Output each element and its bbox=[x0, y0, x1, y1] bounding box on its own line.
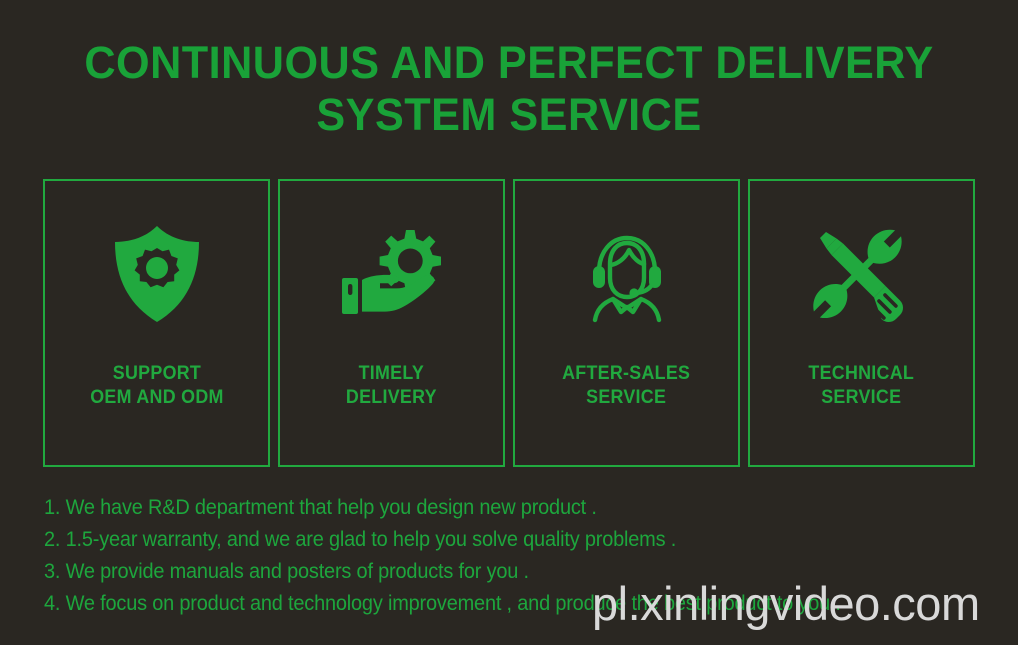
feature-card-label: SUPPORT OEM AND ODM bbox=[90, 362, 223, 410]
feature-card-row: SUPPORT OEM AND ODM TIMELY DELIVERY bbox=[43, 179, 975, 467]
feature-card-label-line-1: AFTER-SALES bbox=[562, 362, 690, 386]
feature-card-label-line-2: SERVICE bbox=[809, 386, 915, 410]
feature-card-label: TECHNICAL SERVICE bbox=[809, 362, 915, 410]
feature-card-label: AFTER-SALES SERVICE bbox=[562, 362, 690, 410]
feature-card-label-line-1: TIMELY bbox=[346, 362, 437, 386]
page-title-line-1: CONTINUOUS AND PERFECT DELIVERY bbox=[20, 40, 997, 85]
page-title-line-2: SYSTEM SERVICE bbox=[20, 92, 997, 137]
feature-card-technical[interactable]: TECHNICAL SERVICE bbox=[748, 179, 975, 467]
hand-gear-icon bbox=[338, 224, 446, 324]
feature-card-label-line-2: DELIVERY bbox=[346, 386, 437, 410]
feature-card-label-line-1: TECHNICAL bbox=[809, 362, 915, 386]
headset-agent-icon bbox=[579, 224, 675, 324]
feature-card-timely-delivery[interactable]: TIMELY DELIVERY bbox=[278, 179, 505, 467]
feature-card-after-sales[interactable]: AFTER-SALES SERVICE bbox=[513, 179, 740, 467]
shield-gear-icon bbox=[109, 224, 205, 324]
service-poster: CONTINUOUS AND PERFECT DELIVERY SYSTEM S… bbox=[0, 0, 1018, 645]
feature-card-label-line-1: SUPPORT bbox=[90, 362, 223, 386]
service-point-item: 2. 1.5-year warranty, and we are glad to… bbox=[44, 524, 928, 556]
feature-card-label-line-2: OEM AND ODM bbox=[90, 386, 223, 410]
service-points-list: 1. We have R&D department that help you … bbox=[44, 492, 974, 620]
feature-card-support[interactable]: SUPPORT OEM AND ODM bbox=[43, 179, 270, 467]
service-point-item: 4. We focus on product and technology im… bbox=[44, 588, 928, 620]
wrench-screwdriver-icon bbox=[812, 224, 912, 324]
service-point-item: 3. We provide manuals and posters of pro… bbox=[44, 556, 928, 588]
feature-card-label-line-2: SERVICE bbox=[562, 386, 690, 410]
page-title: CONTINUOUS AND PERFECT DELIVERY SYSTEM S… bbox=[0, 40, 1018, 137]
service-point-item: 1. We have R&D department that help you … bbox=[44, 492, 928, 524]
feature-card-label: TIMELY DELIVERY bbox=[346, 362, 437, 410]
